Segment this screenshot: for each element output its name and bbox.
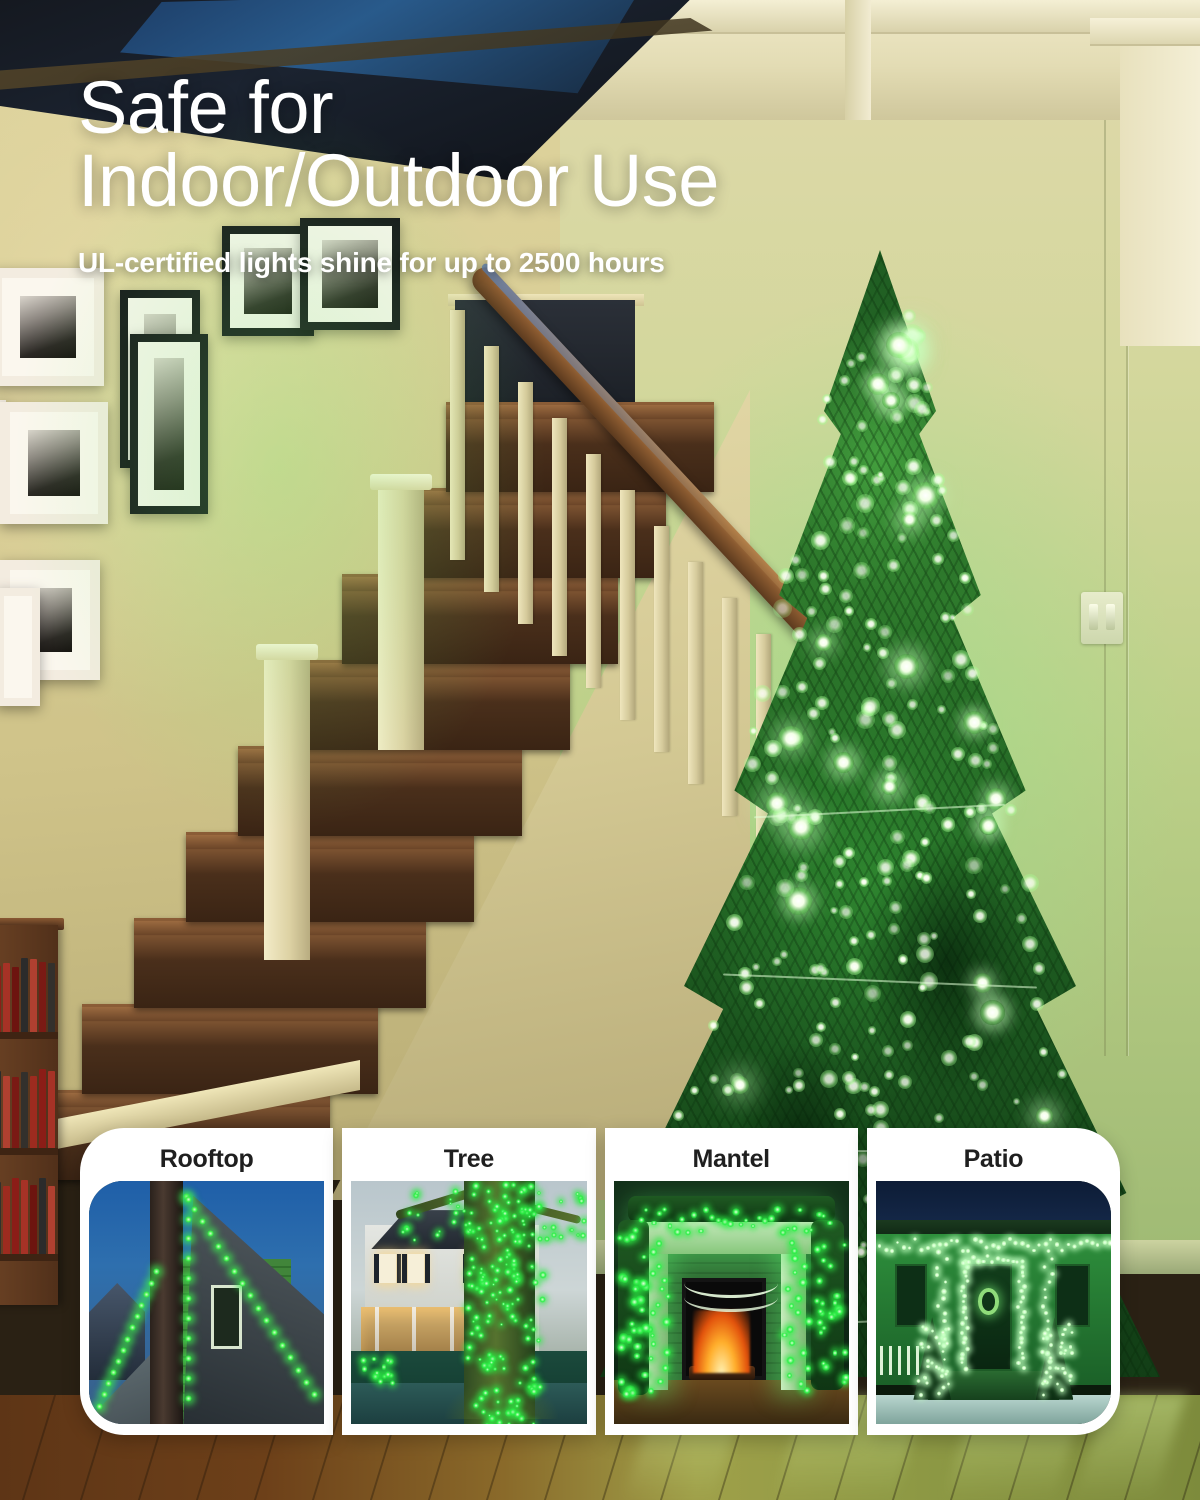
subtitle: UL-certified lights shine for up to 2500… <box>78 247 665 279</box>
column-light <box>794 1309 802 1315</box>
tree-light-bulb <box>863 643 871 651</box>
tree-light <box>513 1239 518 1244</box>
usage-card-patio[interactable]: Patio <box>867 1128 1120 1435</box>
book <box>39 1069 46 1148</box>
tree-light <box>530 1264 535 1269</box>
mantel-light <box>703 1206 709 1214</box>
pillar-light <box>1047 1366 1053 1370</box>
tree-light-bulb <box>796 681 807 692</box>
garland-light <box>626 1334 632 1346</box>
eave-light <box>960 1249 965 1253</box>
tree-light-bulb <box>856 494 874 512</box>
book <box>0 1071 1 1148</box>
branch-light <box>453 1210 459 1216</box>
tree-light-bulb-bright <box>1036 1107 1053 1124</box>
usage-card-label: Rooftop <box>160 1137 254 1181</box>
tree-light-bulb-bright <box>881 778 898 795</box>
tree-light <box>507 1422 511 1424</box>
roof-light <box>148 1280 155 1287</box>
tree-light-bulb <box>795 568 809 582</box>
eave-light <box>908 1246 912 1249</box>
pillar-light <box>1050 1257 1054 1261</box>
baluster <box>518 382 533 624</box>
column-light <box>800 1263 809 1270</box>
eave-light <box>996 1244 1001 1251</box>
attic-window <box>211 1285 242 1348</box>
tree-light <box>469 1256 475 1262</box>
tree-light <box>498 1290 502 1294</box>
tree-light-bulb <box>882 755 897 770</box>
tree-light-bulb-bright <box>985 788 1007 810</box>
wreath <box>978 1288 999 1315</box>
tree-light-bulb <box>886 678 897 689</box>
branch-light <box>542 1225 547 1230</box>
tree-light-bulb <box>856 420 868 432</box>
framed-photo <box>20 296 76 358</box>
tree-light-bulb-bright <box>785 887 813 915</box>
usage-card-rooftop[interactable]: Rooftop <box>80 1128 333 1435</box>
tree-light <box>469 1331 474 1336</box>
tree-light <box>502 1210 508 1216</box>
tree-light <box>485 1423 489 1424</box>
ground-light <box>362 1365 367 1373</box>
pillar-light <box>944 1257 950 1261</box>
tree-light-bulb <box>851 1053 859 1061</box>
door-garland-light <box>1017 1346 1023 1350</box>
tree-light-bulb <box>780 950 789 959</box>
floor-plank <box>22 1395 56 1500</box>
tree-light-bulb <box>861 697 879 715</box>
pillar-light <box>941 1288 947 1295</box>
tree-light <box>496 1419 503 1424</box>
window-left <box>895 1264 928 1327</box>
roof-light <box>255 1305 262 1312</box>
tree-light <box>476 1226 482 1232</box>
tree-light-bulb <box>793 1079 806 1092</box>
column-light <box>780 1333 789 1338</box>
door-garland-light <box>963 1366 969 1373</box>
tree-light-bulb <box>818 570 830 582</box>
branch-light <box>580 1232 587 1239</box>
tree-light <box>525 1335 531 1341</box>
shelf-board <box>0 1254 58 1261</box>
frame-mat <box>4 596 32 698</box>
pillar-light <box>940 1296 947 1301</box>
mini-tree-light <box>923 1326 928 1332</box>
column-light <box>660 1278 669 1283</box>
garland-top <box>628 1196 835 1223</box>
mantel-light <box>650 1221 658 1225</box>
tree-light <box>539 1296 546 1303</box>
tree-light-bulb <box>882 711 898 727</box>
tree-light <box>494 1267 501 1274</box>
tree-light-bulb <box>819 583 831 595</box>
mantel-light <box>668 1222 672 1230</box>
tree-light-bulb <box>828 728 836 736</box>
eave-light <box>943 1242 949 1247</box>
tree-light <box>531 1327 535 1331</box>
column-light <box>789 1302 794 1310</box>
book <box>12 1077 19 1148</box>
tree-light <box>495 1298 498 1301</box>
tree-light-bulb <box>826 616 842 632</box>
tree-light <box>505 1303 510 1308</box>
tree-light-bulb <box>739 875 754 890</box>
tree-light-bulb-bright <box>731 1076 749 1094</box>
porch-railing <box>880 1346 922 1375</box>
eave-light <box>1002 1240 1007 1247</box>
branch-light <box>416 1213 420 1217</box>
mini-tree-light <box>1042 1336 1046 1341</box>
tree-light <box>515 1397 521 1403</box>
column-light <box>655 1302 662 1308</box>
door-garland-light <box>1020 1259 1025 1264</box>
tree-light-bulb <box>775 685 790 700</box>
tree-light-bulb <box>829 1043 840 1054</box>
tree-light-bulb-bright <box>815 634 832 651</box>
tree-light <box>537 1191 540 1194</box>
mini-tree-light <box>926 1358 930 1364</box>
garland-light <box>630 1327 638 1335</box>
eave-light <box>1055 1241 1060 1247</box>
book <box>0 966 1 1032</box>
tree-light-bulb <box>964 806 976 818</box>
chimney <box>150 1181 183 1424</box>
tree-light-bulb-bright <box>980 1000 1005 1025</box>
tree-light-bulb <box>1022 936 1038 952</box>
roof-light <box>143 1291 150 1298</box>
tree-light-bulb <box>752 963 760 971</box>
tree-light-bulb <box>856 352 866 362</box>
mini-tree-light <box>1068 1379 1072 1382</box>
pillar-light <box>1042 1265 1047 1269</box>
headline-line-1: Safe for <box>78 66 333 149</box>
branch-light <box>575 1192 580 1197</box>
tree-light-bulb <box>930 932 938 940</box>
tree-light-bulb <box>890 830 904 844</box>
eave-light <box>1060 1248 1064 1253</box>
branch-light <box>544 1236 550 1242</box>
page-title: Safe for Indoor/Outdoor Use <box>78 72 1028 217</box>
branch-light <box>559 1199 563 1203</box>
tree-light <box>514 1411 521 1418</box>
roof-light <box>115 1358 122 1365</box>
newel-post-lower <box>378 490 424 750</box>
eave-light <box>1031 1249 1037 1252</box>
tree-light-bulb <box>897 533 907 543</box>
picture-frame <box>0 402 108 524</box>
door-garland-light <box>961 1300 966 1303</box>
tree-light-bulb <box>959 572 971 584</box>
usage-card-thumbnail-mantel <box>614 1181 849 1424</box>
mini-tree-light <box>1060 1341 1065 1344</box>
eave-light <box>937 1242 943 1247</box>
column-light <box>790 1255 800 1262</box>
tree-light <box>511 1182 516 1187</box>
tree-light-bulb <box>842 1071 856 1085</box>
tree-light <box>471 1192 476 1197</box>
tree-light-bulb <box>765 771 779 785</box>
pillar-light <box>941 1319 948 1323</box>
mini-tree-light <box>926 1345 932 1349</box>
book <box>3 963 10 1032</box>
tree-light <box>478 1358 481 1361</box>
door-garland-light <box>961 1340 967 1345</box>
branch-light <box>451 1219 457 1225</box>
pillar-light <box>1043 1288 1047 1291</box>
usage-card-thumbnail-patio <box>876 1181 1111 1424</box>
branch-light <box>401 1230 405 1234</box>
roof-light <box>191 1206 198 1213</box>
tree-light-bulb <box>932 553 944 565</box>
garland-light <box>632 1286 638 1291</box>
tree-light-bulb <box>866 930 876 940</box>
tree-light <box>465 1355 471 1361</box>
mantel-light <box>697 1229 705 1233</box>
tree-light-bulb <box>842 470 858 486</box>
garland-light <box>821 1243 826 1250</box>
tree-light-bulb <box>744 756 761 773</box>
tree-light <box>478 1288 485 1295</box>
tree-light-bulb <box>773 599 792 618</box>
usage-card-thumbnail-tree <box>351 1181 586 1424</box>
book <box>0 1182 1 1254</box>
book <box>48 1186 55 1254</box>
column-light <box>805 1364 811 1373</box>
shelf-board <box>0 1148 58 1155</box>
column-light <box>659 1286 665 1292</box>
tree-light <box>506 1286 514 1294</box>
shutter <box>397 1254 402 1283</box>
tree-light <box>496 1400 500 1404</box>
column-light <box>648 1387 653 1395</box>
tree-light-bulb <box>1021 874 1039 892</box>
column-light <box>800 1348 807 1358</box>
eave-light <box>902 1244 907 1251</box>
eave-light <box>1107 1240 1111 1246</box>
tree-light-bulb <box>877 859 894 876</box>
tree-light-bulb <box>977 1079 988 1090</box>
floor-plank <box>1182 1395 1200 1500</box>
usage-card-label: Tree <box>444 1137 494 1181</box>
tree-light-bulb <box>906 377 922 393</box>
tree-light <box>487 1313 492 1318</box>
tree-light-bulb <box>965 857 983 875</box>
eave-light <box>890 1248 894 1254</box>
frame-mat <box>2 278 94 376</box>
roof-light <box>215 1243 222 1250</box>
mini-tree-light <box>1056 1367 1060 1371</box>
branch-light <box>456 1204 460 1208</box>
tree-light-bulb <box>849 456 859 466</box>
tree-light-bulb <box>905 458 922 475</box>
tree-light <box>473 1402 480 1409</box>
book <box>3 1186 10 1254</box>
tree-light <box>514 1279 519 1284</box>
tree-light <box>498 1354 503 1359</box>
tree-light-bulb <box>1013 1098 1020 1105</box>
branch-light <box>506 1200 511 1205</box>
tree-light-bulb-bright <box>973 973 993 993</box>
book <box>3 1076 10 1148</box>
picture-frame <box>0 268 104 386</box>
column-light <box>784 1286 792 1292</box>
tree-light-bulb <box>793 1068 804 1079</box>
branch-light <box>522 1223 525 1226</box>
pillar-light <box>935 1272 939 1277</box>
tree-light-bulb <box>778 568 794 584</box>
door-garland-light <box>1020 1356 1026 1360</box>
tree-light-bulb <box>902 309 916 323</box>
eave-light <box>955 1238 959 1244</box>
usage-card-label: Patio <box>964 1137 1024 1181</box>
shutter <box>402 1254 407 1283</box>
mantel-light <box>826 1221 833 1225</box>
tree-light-bulb <box>884 1070 894 1080</box>
mini-tree-light <box>1059 1345 1064 1348</box>
branch-light <box>502 1193 508 1199</box>
door-garland-light <box>1018 1289 1025 1293</box>
tree-light <box>471 1265 476 1270</box>
garland-light <box>820 1258 827 1263</box>
column-light <box>662 1364 669 1372</box>
picture-frame <box>130 334 208 514</box>
mantel-light <box>791 1225 798 1232</box>
tree-light-bulb <box>941 669 955 683</box>
mini-tree-light <box>941 1330 945 1335</box>
eave-light <box>884 1247 889 1253</box>
book <box>12 967 19 1032</box>
mantel-light <box>673 1228 682 1236</box>
mini-tree-light <box>1063 1349 1068 1352</box>
headline-line-2: Indoor/Outdoor Use <box>78 145 1028 218</box>
tree-light-bulb <box>772 957 782 967</box>
usage-card-strip: Rooftop Tree <box>80 1128 1120 1435</box>
tree-light <box>487 1199 492 1204</box>
roof-light <box>279 1342 286 1349</box>
door-garland-light <box>964 1274 968 1278</box>
tree-light <box>480 1237 485 1242</box>
roof-light <box>295 1367 302 1374</box>
branch-light <box>551 1232 557 1238</box>
eave-light <box>1078 1240 1083 1246</box>
usage-card-label: Mantel <box>692 1137 769 1181</box>
tree-light-bulb <box>937 705 946 714</box>
mini-tree-light <box>938 1341 941 1346</box>
mantel-light <box>773 1206 781 1213</box>
garland-light <box>627 1233 638 1241</box>
tree-light-bulb <box>785 1086 793 1094</box>
usage-card-tree[interactable]: Tree <box>342 1128 595 1435</box>
ground-light <box>382 1363 386 1370</box>
mantel-light <box>656 1211 664 1215</box>
tree-light-bulb <box>749 727 758 736</box>
mini-tree-light <box>1056 1382 1060 1386</box>
mantel-light <box>785 1227 790 1231</box>
book <box>39 1178 46 1254</box>
door-garland-light <box>965 1325 971 1331</box>
column-light <box>665 1294 672 1299</box>
baluster <box>484 346 499 592</box>
tree-light-bulb <box>798 862 809 873</box>
tree-light <box>485 1319 490 1324</box>
column-light <box>662 1317 670 1327</box>
tree-light-bulb <box>822 394 832 404</box>
column-light <box>663 1348 671 1357</box>
mantel-light <box>662 1207 667 1212</box>
roof-light <box>120 1347 127 1354</box>
eave-light <box>1007 1237 1012 1241</box>
tree-light-bulb <box>941 1050 957 1066</box>
tree-light <box>512 1213 518 1219</box>
shutter <box>425 1254 430 1283</box>
tree-light-bulb <box>982 759 992 769</box>
tree-light <box>493 1367 497 1371</box>
mini-tree-light <box>1067 1322 1071 1326</box>
tree-light-bulb <box>973 909 986 922</box>
tree-light <box>508 1398 514 1404</box>
branch-light <box>413 1238 416 1241</box>
tree-light-bulb <box>839 517 855 533</box>
tree-light-bulb <box>961 603 974 616</box>
mini-tree-light <box>1042 1393 1045 1397</box>
ceiling-beam <box>1090 18 1200 46</box>
tree-light-bulb <box>987 742 999 754</box>
book <box>48 963 55 1032</box>
tree-light-bulb-bright <box>766 792 788 814</box>
tree-light-bulb <box>811 531 829 549</box>
tree-light <box>529 1318 533 1322</box>
tree-light <box>505 1248 510 1253</box>
branch-light <box>467 1221 472 1226</box>
mini-tree-light <box>1042 1331 1047 1336</box>
book <box>30 1076 37 1148</box>
roof-light <box>124 1336 131 1343</box>
eave-light <box>966 1248 969 1253</box>
tree-light <box>532 1422 536 1424</box>
column-light <box>794 1294 803 1303</box>
door-garland-light <box>1015 1305 1021 1309</box>
tree-light-bulb <box>1030 997 1044 1011</box>
eave-light <box>925 1246 931 1249</box>
tree-light-bulb <box>962 1035 975 1048</box>
mini-tree-light <box>925 1381 929 1386</box>
door-garland-light <box>1019 1315 1025 1319</box>
tree-light <box>516 1297 520 1301</box>
door-garland-light <box>960 1320 964 1327</box>
tree-light-bulb <box>887 559 900 572</box>
tree-light <box>523 1323 529 1329</box>
baluster <box>552 418 567 656</box>
tree-light <box>482 1390 488 1396</box>
baluster <box>450 310 465 560</box>
branch-light <box>494 1203 500 1209</box>
roof-light <box>185 1216 192 1223</box>
tree-light <box>481 1409 487 1415</box>
tree-light-bulb <box>934 1113 944 1123</box>
usage-card-mantel[interactable]: Mantel <box>605 1128 858 1435</box>
branch-light <box>550 1224 557 1231</box>
tree-light-bulb <box>965 666 980 681</box>
newel-post-bottom <box>264 660 310 960</box>
mini-tree-light <box>1060 1387 1064 1393</box>
tree-light-bulb <box>790 554 802 566</box>
book <box>48 1071 55 1148</box>
front-door <box>965 1264 1012 1371</box>
door-garland-light <box>1021 1284 1028 1288</box>
tree-light-bulb <box>921 382 932 393</box>
tree-light-bulb <box>813 657 826 670</box>
